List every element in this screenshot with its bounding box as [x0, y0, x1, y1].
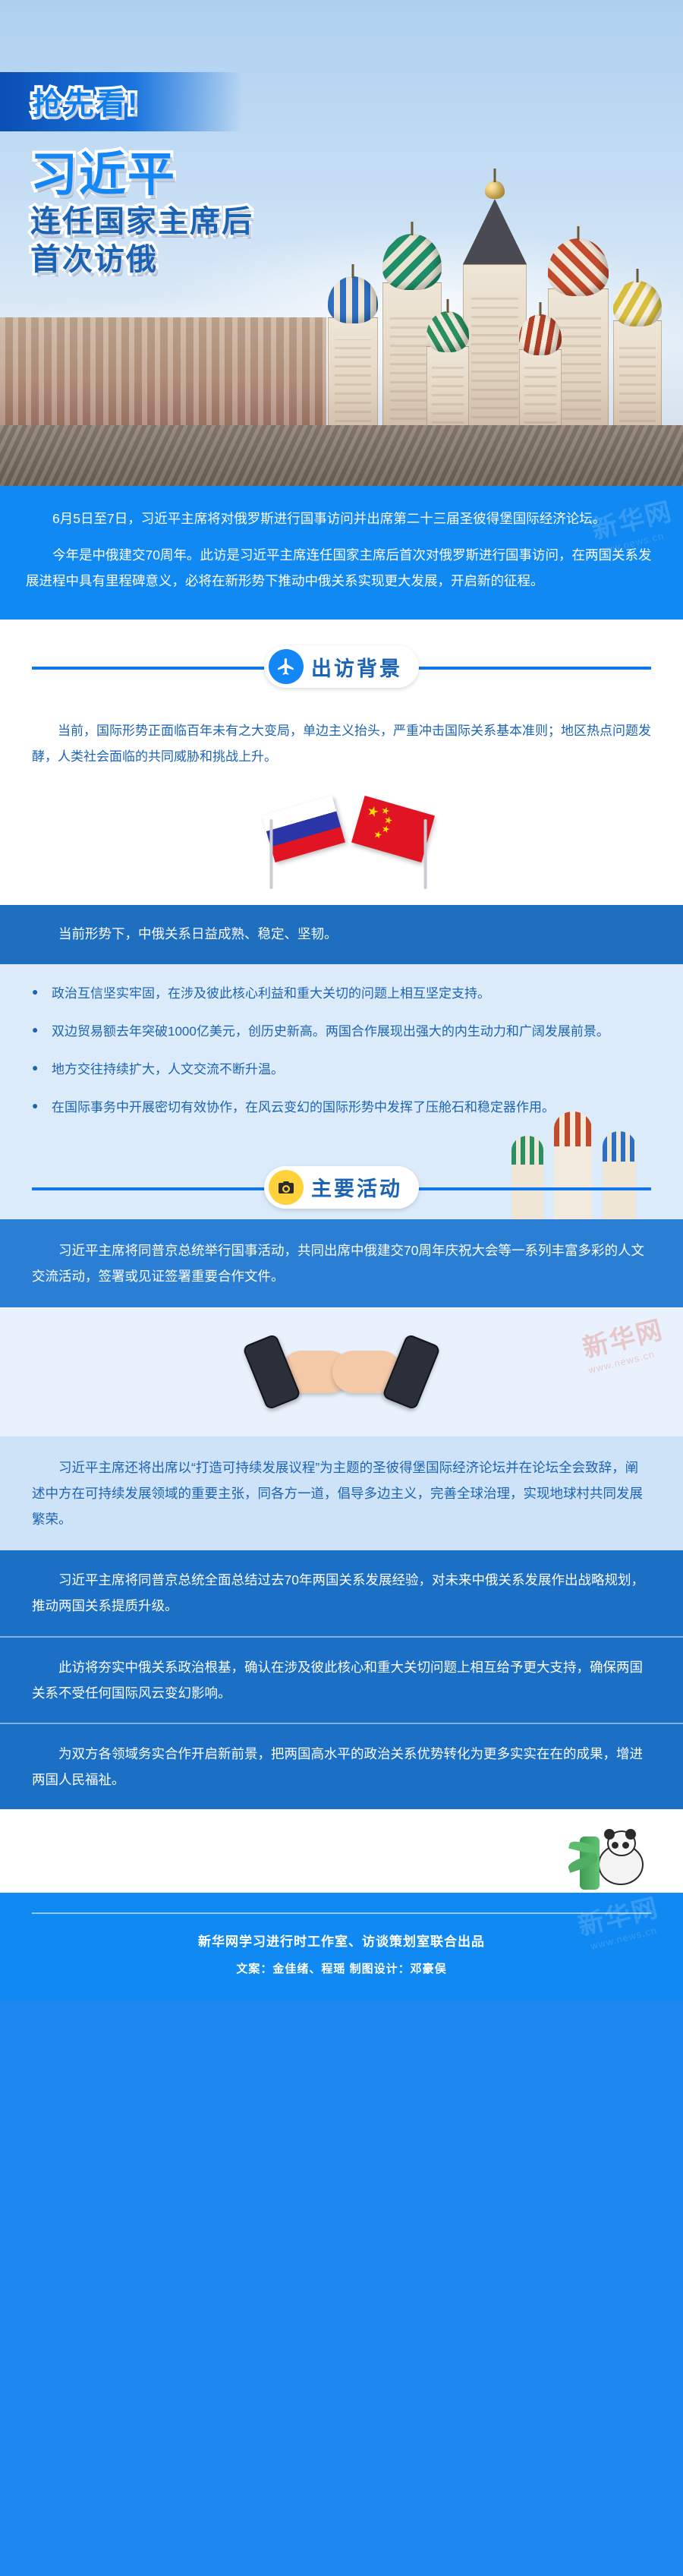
airplane-icon	[269, 649, 304, 684]
section-2-header-background: 主要活动	[0, 1140, 683, 1219]
camera-icon	[269, 1170, 304, 1205]
section-header-background: 出访背景	[0, 620, 683, 698]
section-2-block-1: 习近平主席将同普京总统举行国事活动，共同出席中俄建交70周年庆祝大会等一系列丰富…	[0, 1219, 683, 1307]
section-2-chip: 主要活动	[264, 1166, 419, 1209]
section-1-band: 当前形势下，中俄关系日益成熟、稳定、坚韧。	[0, 905, 683, 963]
st-basils-cathedral-image	[313, 44, 669, 439]
section-1-title: 出访背景	[311, 652, 402, 682]
china-flag: ★ ★ ★ ★ ★	[351, 796, 435, 862]
hero-title-group: 习近平 连任国家主席后 首次访俄	[30, 152, 253, 282]
list-item: 政治互信坚实牢固，在涉及彼此核心利益和重大关切的问题上相互坚定支持。	[32, 981, 651, 1007]
footer: 新华网www.news.cn 新华网学习进行时工作室、访谈策划室联合出品 文案：…	[0, 1893, 683, 2001]
footer-divider	[32, 1912, 651, 1914]
panda-icon	[580, 1820, 663, 1890]
red-square-ground	[0, 425, 683, 486]
section-1-paragraph-block: 当前，国际形势正面临百年未有之大变局，单边主义抬头，严重冲击国际关系基本准则；地…	[0, 698, 683, 791]
gum-building	[0, 317, 326, 431]
page-title-line3: 首次访俄	[30, 244, 253, 275]
handshake-graphic	[253, 1338, 430, 1406]
infographic-page: 抢先看! 习近平 连任国家主席后 首次访俄 新华网www.news.cn 6月5…	[0, 0, 683, 2576]
list-item: 地方交往持续扩大，人文交流不断升温。	[32, 1057, 651, 1083]
intro-section: 新华网www.news.cn 6月5日至7日，习近平主席将对俄罗斯进行国事访问并…	[0, 486, 683, 620]
section-2-block-4: 此访将夯实中俄关系政治根基，确认在涉及彼此核心和重大关切问题上相互给予更大支持，…	[0, 1636, 683, 1723]
list-item: 双边贸易额去年突破1000亿美元，创历史新高。两国合作展现出强大的内生动力和广阔…	[32, 1019, 651, 1045]
section-2-block-2: 习近平主席还将出席以“打造可持续发展议程”为主题的圣彼得堡国际经济论坛并在论坛全…	[0, 1436, 683, 1550]
section-2-block-5: 为双方各领域务实合作开启新前景，把两国高水平的政治关系优势转化为更多实实在在的成…	[0, 1723, 683, 1809]
intro-paragraph-2: 今年是中俄建交70周年。此访是习近平主席连任国家主席后首次对俄罗斯进行国事访问，…	[26, 542, 657, 594]
tag-label: 抢先看!	[32, 79, 139, 123]
bullet-list: 政治互信坚实牢固，在涉及彼此核心利益和重大关切的问题上相互坚定支持。 双边贸易额…	[32, 981, 651, 1121]
russia-flag	[262, 796, 345, 862]
section-1-paragraph: 当前，国际形势正面临百年未有之大变局，单边主义抬头，严重冲击国际关系基本准则；地…	[32, 718, 651, 770]
footer-credit-line: 新华网学习进行时工作室、访谈策划室联合出品	[32, 1931, 651, 1950]
handshake-illustration: 新华网www.news.cn	[0, 1307, 683, 1436]
footer-authors-line: 文案：金佳绪、程瑶 制图设计：邓豪俣	[32, 1960, 651, 1976]
watermark: 新华网www.news.cn	[578, 1309, 669, 1376]
section-1-chip: 出访背景	[264, 645, 419, 688]
section-2-title: 主要活动	[311, 1172, 402, 1202]
hero-banner: 抢先看! 习近平 连任国家主席后 首次访俄	[0, 0, 683, 486]
page-title-line2: 连任国家主席后	[30, 207, 253, 237]
flags-illustration: ★ ★ ★ ★ ★	[0, 791, 683, 905]
section-2-block-3: 习近平主席将同普京总统全面总结过去70年两国关系发展经验，对未来中俄关系发展作出…	[0, 1550, 683, 1635]
panda-illustration	[0, 1809, 683, 1893]
intro-paragraph-1: 6月5日至7日，习近平主席将对俄罗斯进行国事访问并出席第二十三届圣彼得堡国际经济…	[26, 506, 657, 531]
page-title-line1: 习近平	[30, 152, 253, 199]
